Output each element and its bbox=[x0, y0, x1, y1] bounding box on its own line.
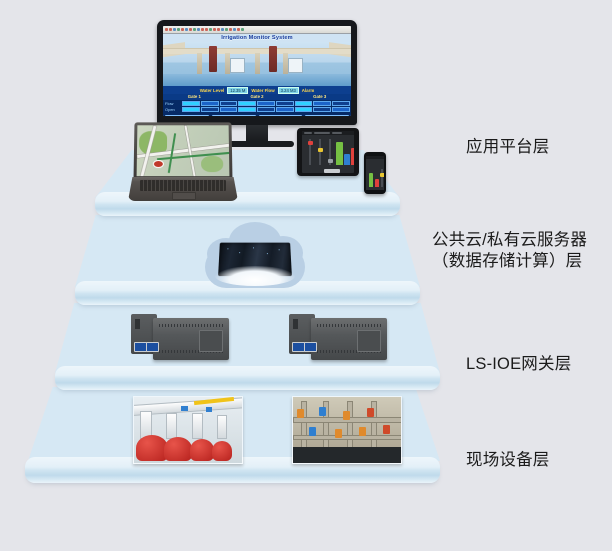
cloud-mist bbox=[215, 266, 295, 286]
phone-screen bbox=[366, 156, 384, 190]
gate-header-2: Gate 3 bbox=[288, 94, 351, 100]
gate-header-1: Gate 2 bbox=[226, 94, 289, 100]
laptop-screen bbox=[137, 125, 230, 176]
tablet[interactable] bbox=[297, 128, 359, 176]
laptop[interactable] bbox=[128, 122, 238, 202]
gateway-body bbox=[311, 318, 387, 360]
status-value-1: 3.24 M3 bbox=[278, 87, 299, 94]
gateway-panel bbox=[199, 330, 223, 352]
dam-scene-graphic bbox=[163, 42, 351, 86]
gateway-panel bbox=[357, 330, 381, 352]
laptop-lid bbox=[134, 122, 233, 179]
app-button-row[interactable]: About Features Demo EXIT bbox=[163, 113, 351, 116]
gateway-port-1[interactable] bbox=[146, 342, 159, 352]
status-label-0: Water Level bbox=[200, 88, 224, 93]
monitor-screen: Irrigation Monitor System Water Level 1 bbox=[163, 26, 351, 116]
desktop-monitor[interactable]: Irrigation Monitor System Water Level 1 bbox=[157, 20, 357, 125]
valve-manifold-photo bbox=[292, 396, 402, 464]
phone-status-bar bbox=[366, 156, 384, 159]
tablet-screen bbox=[302, 131, 354, 173]
features-button[interactable]: Features bbox=[212, 115, 256, 116]
tablet-dashboard-plot bbox=[302, 135, 354, 168]
about-button[interactable]: About bbox=[165, 115, 209, 116]
plc-gateway-right[interactable] bbox=[289, 314, 387, 364]
shelf-gateway-layer bbox=[55, 366, 440, 390]
app-title: Irrigation Monitor System bbox=[163, 34, 351, 42]
pump-station-photo bbox=[133, 396, 243, 464]
layer-label-gateway: LS-IOE网关层 bbox=[466, 354, 571, 375]
control-row-open: Open bbox=[164, 107, 350, 112]
app-toolbar bbox=[163, 26, 351, 34]
demo-button[interactable]: Demo bbox=[259, 115, 303, 116]
control-grid[interactable]: Flow Open bbox=[163, 100, 351, 113]
control-row-label-open: Open bbox=[164, 107, 181, 112]
control-row-flow: Flow bbox=[164, 101, 350, 106]
layer-label-field: 现场设备层 bbox=[466, 450, 550, 471]
status-label-1: Water Flow bbox=[251, 88, 274, 93]
layer-label-cloud: 公共云/私有云服务器 （数据存储计算）层 bbox=[432, 230, 587, 272]
laptop-base bbox=[128, 177, 238, 201]
status-value-0: 12.35 M bbox=[227, 87, 248, 94]
status-label-2: Alarm bbox=[302, 88, 314, 93]
gateway-body bbox=[153, 318, 229, 360]
control-row-label-flow: Flow bbox=[164, 101, 181, 106]
architecture-diagram: Irrigation Monitor System Water Level 1 bbox=[0, 0, 612, 551]
plc-gateway-left[interactable] bbox=[131, 314, 229, 364]
gate-header-0: Gate 1 bbox=[163, 94, 226, 100]
cloud-server-racks bbox=[205, 222, 305, 294]
gate-header-row: Gate 1 Gate 2 Gate 3 bbox=[163, 94, 351, 100]
tablet-footer-bar bbox=[324, 169, 340, 173]
laptop-keyboard[interactable] bbox=[140, 180, 226, 191]
laptop-touchpad[interactable] bbox=[172, 192, 196, 200]
smartphone[interactable] bbox=[364, 152, 386, 194]
layer-label-application: 应用平台层 bbox=[466, 137, 550, 158]
exit-button[interactable]: EXIT bbox=[305, 115, 349, 116]
gateway-port-1[interactable] bbox=[304, 342, 317, 352]
map-marker-icon bbox=[153, 160, 164, 168]
status-strip: Water Level 12.35 M Water Flow 3.24 M3 A… bbox=[163, 86, 351, 94]
